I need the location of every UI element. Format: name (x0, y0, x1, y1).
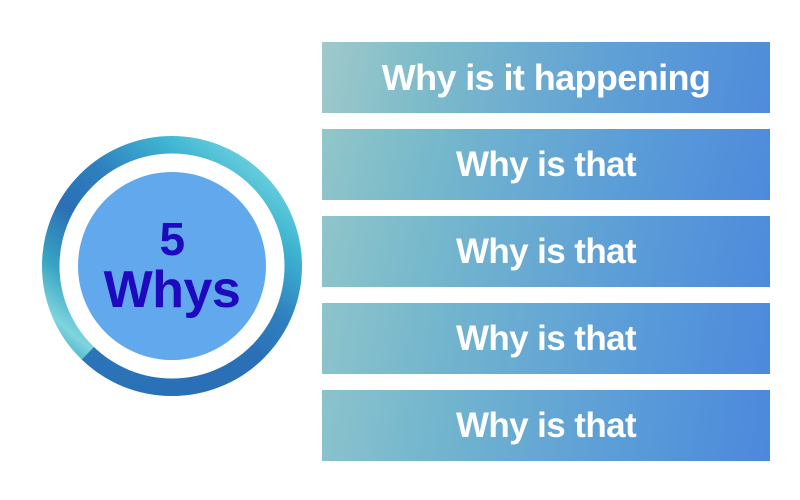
why-bar-label: Why is that (456, 321, 636, 356)
why-bar-label: Why is it happening (382, 60, 711, 96)
why-bar-label: Why is that (456, 147, 636, 182)
why-bar-label: Why is that (456, 234, 636, 269)
why-bar-1[interactable]: Why is it happening (322, 42, 770, 113)
badge-label: 5 Whys (40, 134, 304, 398)
why-bar-5[interactable]: Why is that (322, 390, 770, 461)
five-whys-diagram: 5 Whys Why is it happening Why is that W… (0, 0, 800, 500)
why-bar-list: Why is it happening Why is that Why is t… (322, 42, 770, 458)
badge-number: 5 (159, 216, 184, 262)
why-bar-4[interactable]: Why is that (322, 303, 770, 374)
why-bar-2[interactable]: Why is that (322, 129, 770, 200)
why-bar-3[interactable]: Why is that (322, 216, 770, 287)
badge-word: Whys (104, 264, 241, 316)
why-bar-label: Why is that (456, 408, 636, 443)
five-whys-badge: 5 Whys (40, 134, 304, 398)
